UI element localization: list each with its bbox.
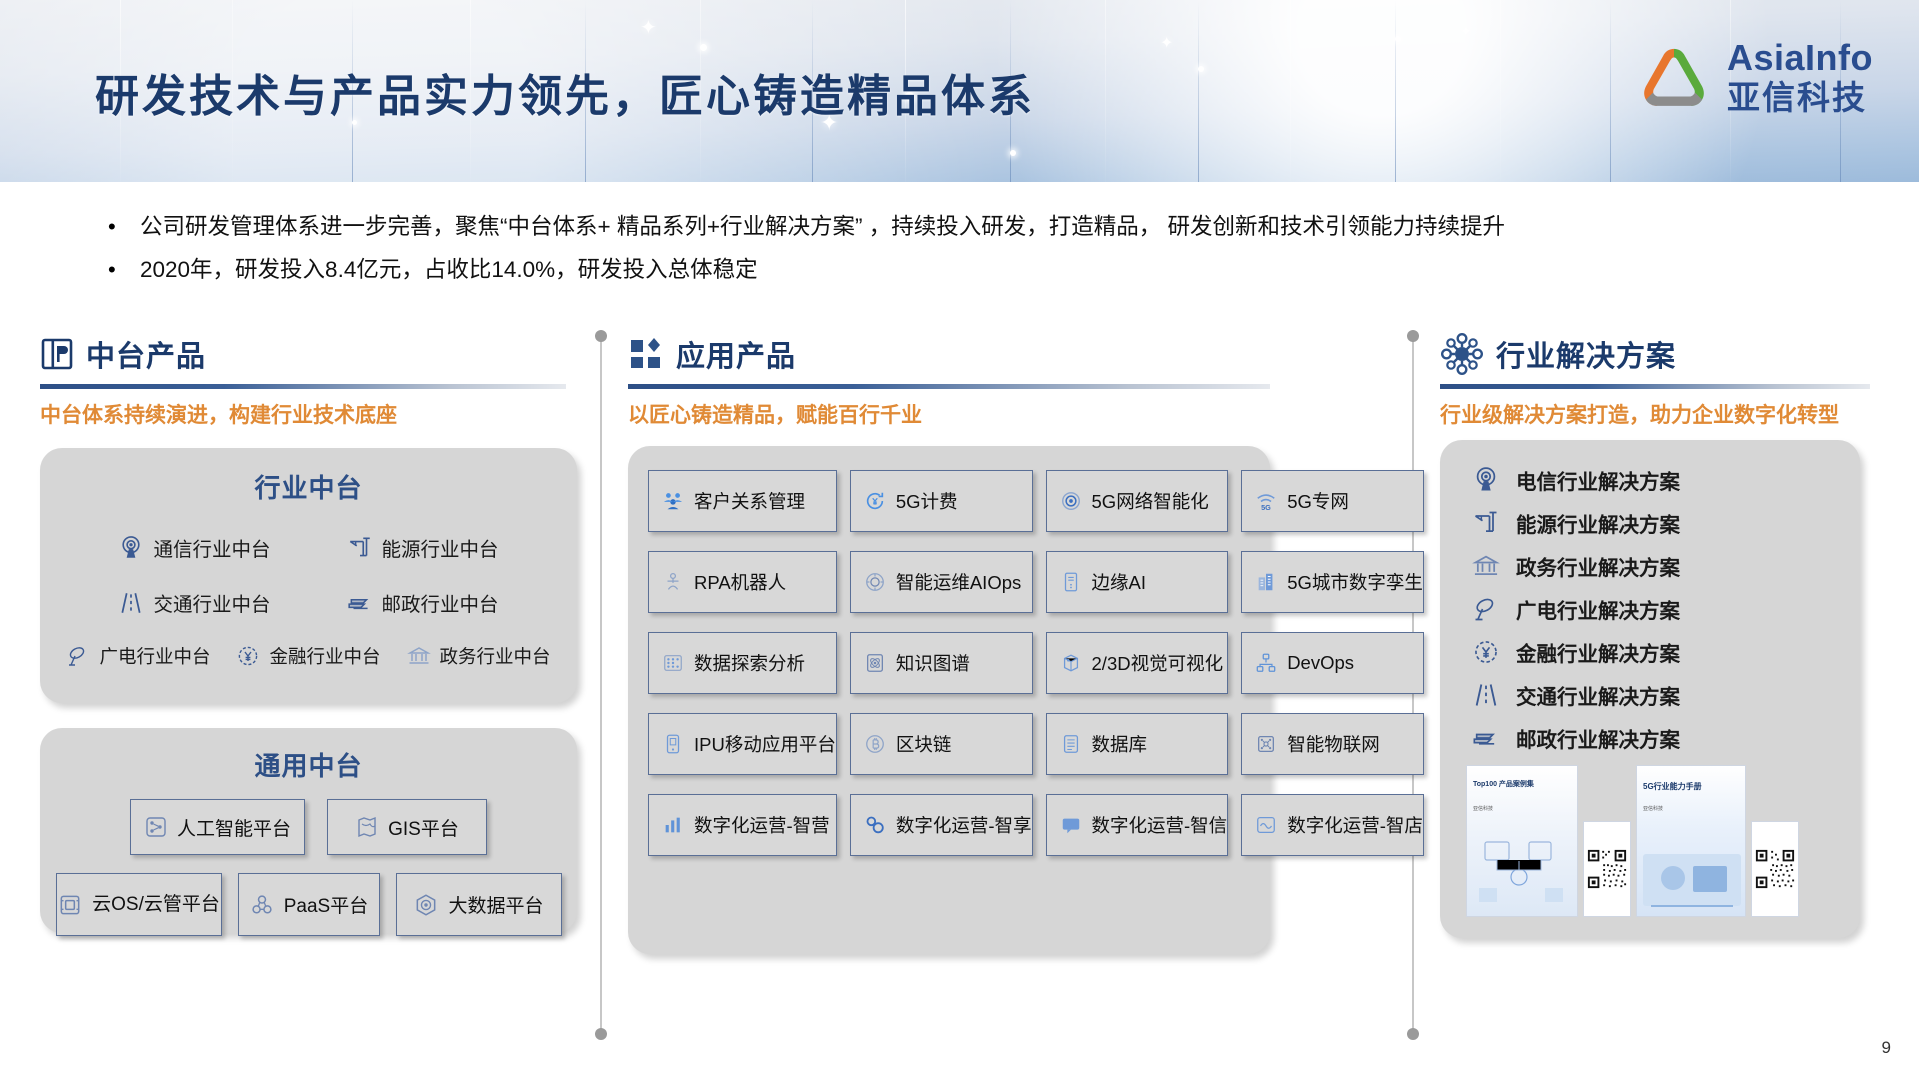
- industry-item-label: 通信行业中台: [153, 533, 270, 562]
- industry-item-label: 交通行业中台: [153, 588, 270, 617]
- solution-network-icon: [1440, 332, 1484, 376]
- banner-stripe: [1500, 0, 1501, 182]
- app-product-label: 5G专网: [1287, 488, 1349, 514]
- solution-label: 邮政行业解决方案: [1516, 723, 1680, 753]
- app-product-label: 边缘AI: [1092, 569, 1146, 595]
- column-solutions: 行业解决方案 行业级解决方案打造，助力企业数字化转型 电信行业解决方案 能源行业…: [1440, 330, 1880, 938]
- industry-row-2: 交通行业中台 邮政行业中台: [54, 588, 563, 617]
- app-product-cell[interactable]: 2/3D视觉可视化: [1046, 632, 1229, 694]
- platform-pill[interactable]: 云OS/云管平台: [56, 873, 222, 936]
- crane-icon: [347, 535, 373, 561]
- ai-network-icon: [144, 815, 168, 839]
- mail-icon: [347, 590, 373, 616]
- app-product-label: 数字化运营-智营: [694, 812, 830, 838]
- banner-stripe: [1395, 0, 1396, 182]
- general-midplatform-panel: 通用中台 人工智能平台 GIS平台 云OS/云管平台: [40, 728, 577, 933]
- mail-icon: [1472, 724, 1500, 752]
- app-product-label: 5G计费: [896, 488, 958, 514]
- page-title: 研发技术与产品实力领先，匠心铸造精品体系: [95, 60, 1035, 124]
- qr-code[interactable]: [1583, 821, 1631, 917]
- app-product-cell[interactable]: RPA机器人: [648, 551, 837, 613]
- solution-label: 电信行业解决方案: [1516, 465, 1680, 495]
- brochure-cover[interactable]: Top100 产品案例集 亚信科技: [1466, 765, 1578, 917]
- general-row-1: 人工智能平台 GIS平台: [54, 799, 563, 855]
- col1-header: 中台产品: [40, 330, 580, 378]
- col2-subtitle: 以匠心铸造精品，赋能百行千业: [628, 401, 1270, 430]
- bullet-marker: •: [108, 255, 140, 285]
- general-panel-title: 通用中台: [54, 746, 563, 783]
- app-product-label: DevOps: [1287, 652, 1354, 674]
- svg-text:5G: 5G: [1261, 503, 1271, 512]
- app-product-label: 5G城市数字孪生: [1287, 569, 1423, 595]
- asiainfo-logo-mark: [1635, 38, 1713, 116]
- satellite-dish-icon: [66, 644, 90, 668]
- link-icon: [864, 814, 886, 836]
- solution-item[interactable]: 电信行业解决方案: [1440, 458, 1860, 501]
- app-product-cell[interactable]: DevOps: [1241, 632, 1424, 694]
- app-product-cell[interactable]: 智能运维AIOps: [850, 551, 1033, 613]
- industry-item[interactable]: 交通行业中台: [118, 588, 270, 617]
- industry-item-label: 金融行业中台: [269, 643, 380, 669]
- app-product-label: 数字化运营-智店: [1287, 812, 1423, 838]
- aiops-icon: [864, 571, 886, 593]
- app-product-cell[interactable]: 区块链: [850, 713, 1033, 775]
- data-analysis-icon: [662, 652, 684, 674]
- brochure-title: 5G行业能力手册: [1643, 782, 1741, 791]
- solution-label: 广电行业解决方案: [1516, 594, 1680, 624]
- server-icon: [1060, 571, 1082, 593]
- app-product-label: RPA机器人: [694, 569, 786, 595]
- industry-panel-title: 行业中台: [54, 468, 563, 505]
- billing-icon: [864, 490, 886, 512]
- app-product-cell[interactable]: IPU移动应用平台: [648, 713, 837, 775]
- col3-rule: [1440, 384, 1870, 389]
- industry-item[interactable]: 金融行业中台: [236, 643, 380, 669]
- asiainfo-logo: AsiaInfo 亚信科技: [1635, 38, 1873, 116]
- banner-stripe: [1105, 0, 1106, 182]
- solutions-panel: 电信行业解决方案 能源行业解决方案 政务行业解决方案 广电行业解决方案 金融行业…: [1440, 440, 1860, 938]
- app-product-label: 数字化运营-智信: [1092, 812, 1228, 838]
- yuan-coin-icon: [1472, 638, 1500, 666]
- robot-icon: [662, 571, 684, 593]
- col2-title: 应用产品: [676, 333, 796, 375]
- banner-particle: [1010, 150, 1016, 156]
- knowledge-graph-icon: [864, 652, 886, 674]
- platform-pill-label: 人工智能平台: [177, 814, 291, 841]
- column-midplatform: 中台产品 中台体系持续演进，构建行业技术底座 行业中台 通信行业中台 能源行业中…: [40, 330, 580, 933]
- column-divider-1: [600, 340, 602, 1030]
- banner-stripe: [1610, 0, 1611, 182]
- logo-text-cn: 亚信科技: [1727, 81, 1873, 114]
- app-product-cell[interactable]: 边缘AI: [1046, 551, 1229, 613]
- app-products-grid: 客户关系管理 5G计费 5G网络智能化 5G5G专网 RPA机器人 智能运维AI…: [628, 446, 1270, 880]
- industry-midplatform-panel: 行业中台 通信行业中台 能源行业中台 交通行业中台: [40, 448, 577, 703]
- app-product-cell[interactable]: 数字化运营-智店: [1241, 794, 1424, 856]
- bullet-text: 2020年，研发投入8.4亿元，占收比14.0%，研发投入总体稳定: [140, 255, 758, 285]
- satellite-dish-icon: [1472, 595, 1500, 623]
- platform-pill[interactable]: 大数据平台: [396, 873, 562, 936]
- app-product-cell[interactable]: 数字化运营-智享: [850, 794, 1033, 856]
- bullet-item: • 2020年，研发投入8.4亿元，占收比14.0%，研发投入总体稳定: [108, 255, 1868, 285]
- general-row-2: 云OS/云管平台 PaaS平台 大数据平台: [54, 873, 563, 936]
- industry-item[interactable]: 通信行业中台: [118, 533, 270, 562]
- yuan-coin-icon: [236, 644, 260, 668]
- app-product-cell[interactable]: 数字化运营-智营: [648, 794, 837, 856]
- platform-pill-label: GIS平台: [388, 814, 459, 841]
- app-product-label: 数据探索分析: [694, 650, 805, 676]
- header-banner: ✦ ✦ ✦ ✦ 研发技术与产品实力领先，匠心铸造精品体系 AsiaInfo 亚信…: [0, 0, 1919, 182]
- app-product-label: 数据库: [1092, 731, 1148, 757]
- midplatform-icon: [40, 337, 74, 371]
- app-product-label: IPU移动应用平台: [694, 731, 836, 757]
- industry-row-1: 通信行业中台 能源行业中台: [54, 533, 563, 562]
- solution-item[interactable]: 政务行业解决方案: [1440, 544, 1860, 587]
- col1-title: 中台产品: [86, 333, 206, 375]
- users-icon: [662, 490, 684, 512]
- column-appproducts: 应用产品 以匠心铸造精品，赋能百行千业 客户关系管理 5G计费 5G网络智能化 …: [628, 330, 1270, 954]
- app-product-label: 客户关系管理: [694, 488, 805, 514]
- bar-chart-icon: [662, 814, 684, 836]
- map-icon: [355, 815, 379, 839]
- app-product-label: 智能运维AIOps: [896, 569, 1021, 595]
- city-icon: [1255, 571, 1277, 593]
- industry-row-3: 广电行业中台 金融行业中台 政务行业中台: [54, 643, 563, 669]
- message-icon: [1060, 814, 1082, 836]
- banner-particle: [1198, 66, 1204, 72]
- app-products-panel: 客户关系管理 5G计费 5G网络智能化 5G5G专网 RPA机器人 智能运维AI…: [628, 446, 1270, 954]
- app-product-label: 知识图谱: [896, 650, 970, 676]
- page-number: 9: [1882, 1038, 1891, 1058]
- industry-item-label: 政务行业中台: [440, 643, 551, 669]
- solution-label: 金融行业解决方案: [1516, 637, 1680, 667]
- industry-item[interactable]: 广电行业中台: [66, 643, 210, 669]
- platform-pill[interactable]: 人工智能平台: [130, 799, 305, 855]
- mobile-icon: [662, 733, 684, 755]
- solution-item[interactable]: 广电行业解决方案: [1440, 587, 1860, 630]
- solution-item[interactable]: 金融行业解决方案: [1440, 630, 1860, 673]
- brochure-subtitle: 亚信科技: [1473, 806, 1493, 813]
- brochure-gallery: Top100 产品案例集 亚信科技: [1440, 759, 1860, 917]
- bullet-text: 公司研发管理体系进一步完善，聚焦“中台体系+ 精品系列+行业解决方案” ，持续投…: [140, 212, 1505, 242]
- app-product-label: 2/3D视觉可视化: [1092, 650, 1224, 676]
- wifi-5g-icon: 5G: [1255, 490, 1277, 512]
- iot-icon: [1255, 733, 1277, 755]
- app-product-cell[interactable]: 5G城市数字孪生: [1241, 551, 1424, 613]
- platform-pill-label: PaaS平台: [284, 891, 368, 918]
- banner-stripe: [1290, 0, 1291, 182]
- brochure-title: Top100 产品案例集: [1473, 780, 1573, 789]
- industry-item[interactable]: 邮政行业中台: [347, 588, 499, 617]
- bigdata-icon: [413, 892, 439, 918]
- qr-code[interactable]: [1751, 821, 1799, 917]
- banner-sparkle: ✦: [1460, 24, 1472, 38]
- app-product-cell[interactable]: 数据库: [1046, 713, 1229, 775]
- app-product-label: 智能物联网: [1287, 731, 1380, 757]
- app-product-cell[interactable]: 知识图谱: [850, 632, 1033, 694]
- industry-item[interactable]: 政务行业中台: [407, 643, 551, 669]
- solution-item[interactable]: 交通行业解决方案: [1440, 673, 1860, 716]
- cloud-os-icon: [57, 892, 83, 918]
- app-product-cell[interactable]: 数据探索分析: [648, 632, 837, 694]
- app-product-cell[interactable]: 数字化运营-智信: [1046, 794, 1229, 856]
- app-product-cell[interactable]: 5G5G专网: [1241, 470, 1424, 532]
- col3-subtitle: 行业级解决方案打造，助力企业数字化转型: [1440, 401, 1840, 430]
- col1-subtitle: 中台体系持续演进，构建行业技术底座: [40, 401, 580, 430]
- col1-rule: [40, 384, 566, 389]
- bullet-item: • 公司研发管理体系进一步完善，聚焦“中台体系+ 精品系列+行业解决方案” ，持…: [108, 212, 1868, 242]
- paas-icon: [249, 892, 275, 918]
- logo-text-en: AsiaInfo: [1727, 40, 1873, 76]
- database-icon: [1060, 733, 1082, 755]
- col3-header: 行业解决方案: [1440, 330, 1880, 378]
- solution-label: 交通行业解决方案: [1516, 680, 1680, 710]
- 3d-cube-icon: [1060, 652, 1082, 674]
- col2-header: 应用产品: [628, 330, 1270, 378]
- road-icon: [118, 590, 144, 616]
- platform-pill[interactable]: PaaS平台: [238, 873, 380, 936]
- solution-label: 能源行业解决方案: [1516, 508, 1680, 538]
- banner-sparkle: ✦: [640, 18, 657, 38]
- bullet-list: • 公司研发管理体系进一步完善，聚焦“中台体系+ 精品系列+行业解决方案” ，持…: [108, 212, 1868, 298]
- signal-tower-icon: [1472, 466, 1500, 494]
- industry-item-label: 广电行业中台: [99, 643, 210, 669]
- brochure-subtitle: 亚信科技: [1643, 806, 1663, 813]
- app-product-cell[interactable]: 5G计费: [850, 470, 1033, 532]
- devops-icon: [1255, 652, 1277, 674]
- solution-item[interactable]: 邮政行业解决方案: [1440, 716, 1860, 759]
- platform-pill-label: 大数据平台: [448, 891, 543, 918]
- app-product-label: 数字化运营-智享: [896, 812, 1032, 838]
- bullet-marker: •: [108, 212, 140, 242]
- col3-title: 行业解决方案: [1496, 333, 1676, 375]
- crane-icon: [1472, 509, 1500, 537]
- app-product-cell[interactable]: 5G网络智能化: [1046, 470, 1229, 532]
- solution-label: 政务行业解决方案: [1516, 551, 1680, 581]
- app-product-cell[interactable]: 智能物联网: [1241, 713, 1424, 775]
- industry-item-label: 邮政行业中台: [382, 588, 499, 617]
- banner-particle: [700, 44, 707, 51]
- bank-icon: [1472, 552, 1500, 580]
- shop-icon: [1255, 814, 1277, 836]
- platform-pill-label: 云OS/云管平台: [92, 894, 220, 916]
- bank-icon: [407, 644, 431, 668]
- col2-rule: [628, 384, 1270, 389]
- industry-item-label: 能源行业中台: [382, 533, 499, 562]
- banner-particle: [1395, 36, 1401, 42]
- target-icon: [1060, 490, 1082, 512]
- banner-stripe: [1198, 0, 1199, 182]
- solution-item[interactable]: 能源行业解决方案: [1440, 501, 1860, 544]
- signal-tower-icon: [118, 535, 144, 561]
- road-icon: [1472, 681, 1500, 709]
- platform-pill[interactable]: GIS平台: [327, 799, 487, 855]
- brochure-cover[interactable]: 5G行业能力手册 亚信科技: [1636, 765, 1746, 917]
- app-products-icon: [628, 336, 664, 372]
- app-product-cell[interactable]: 客户关系管理: [648, 470, 837, 532]
- banner-sparkle: ✦: [1160, 36, 1173, 52]
- industry-item[interactable]: 能源行业中台: [347, 533, 499, 562]
- app-product-label: 5G网络智能化: [1092, 488, 1209, 514]
- app-product-label: 区块链: [896, 731, 952, 757]
- blockchain-icon: [864, 733, 886, 755]
